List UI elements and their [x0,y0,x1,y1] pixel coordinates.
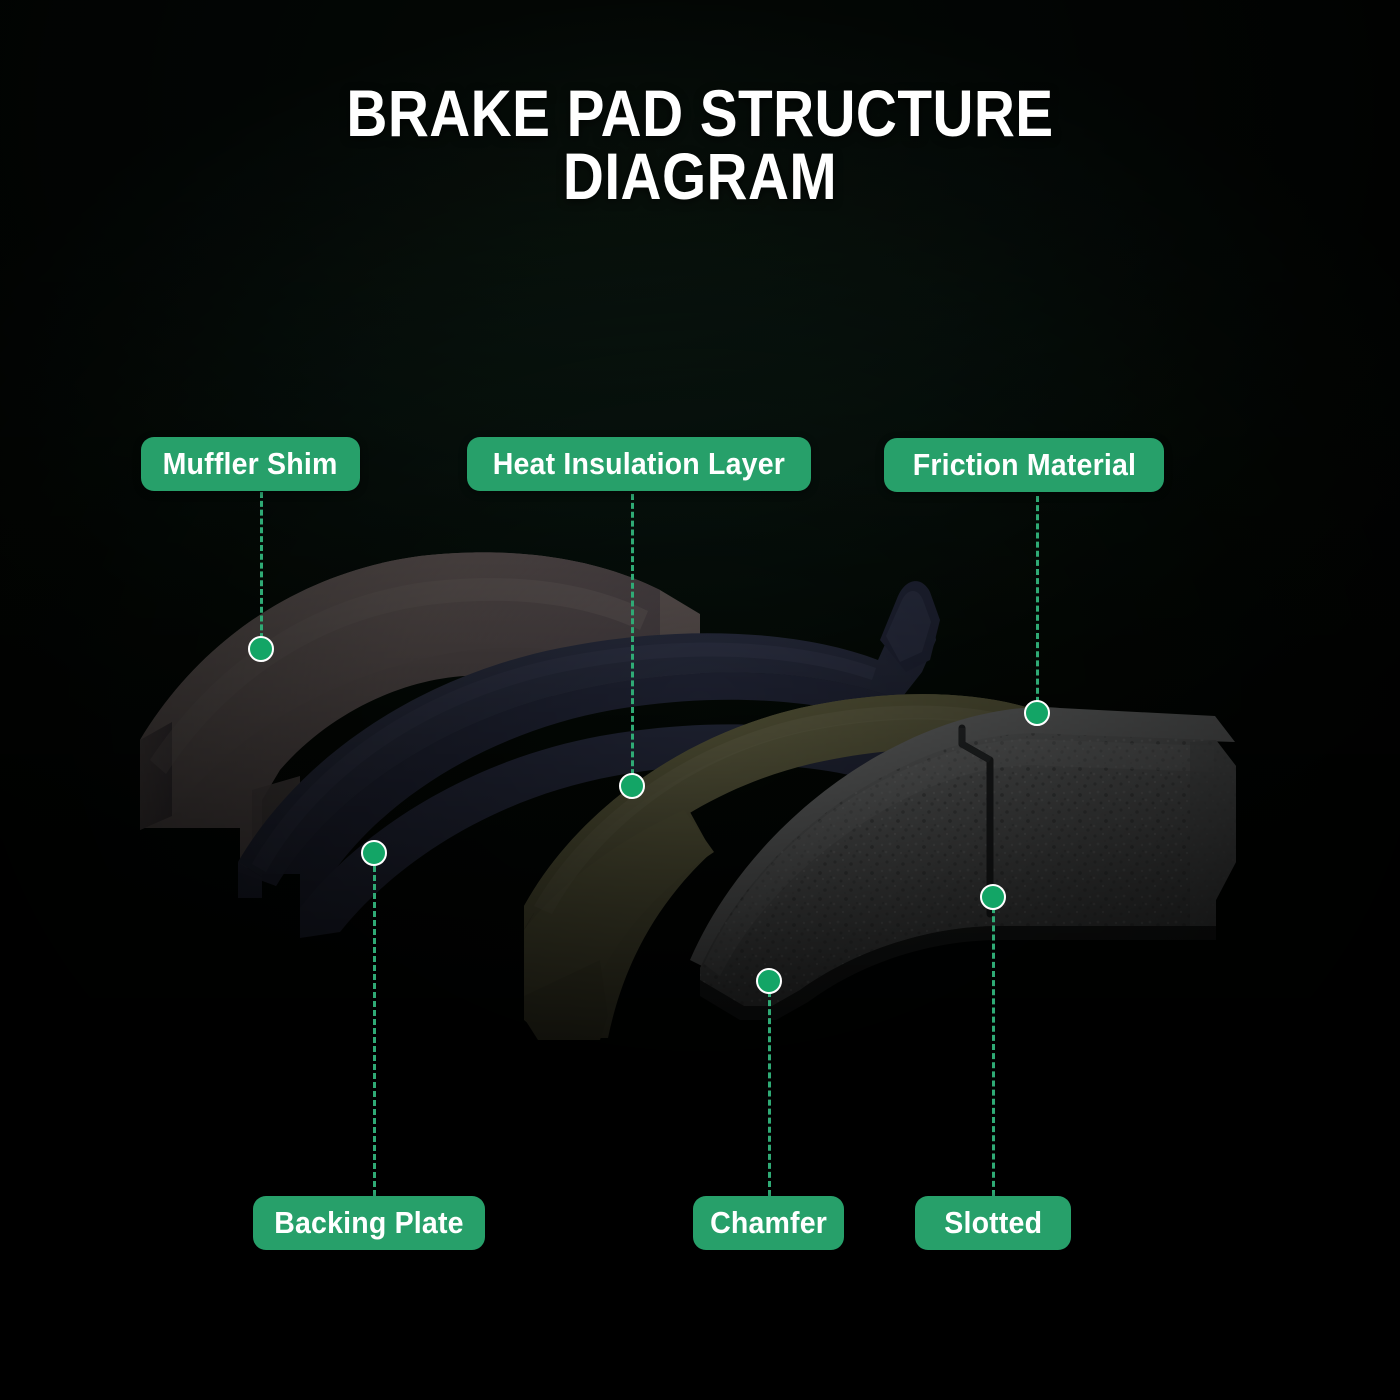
leader-line-backing-plate [373,866,376,1196]
leader-line-muffler-shim [260,492,263,648]
callout-dot-backing-plate[interactable] [361,840,387,866]
callout-dot-heat-insulation-layer[interactable] [619,773,645,799]
callout-dot-friction-material[interactable] [1024,700,1050,726]
brake-pad-diagram-page: BRAKE PAD STRUCTURE DIAGRAM Muffler Shim… [0,0,1400,1400]
label-muffler-shim-text: Muffler Shim [163,446,338,482]
page-title: BRAKE PAD STRUCTURE DIAGRAM [98,82,1302,209]
leader-line-slotted [992,898,995,1196]
label-friction-material[interactable]: Friction Material [884,438,1164,492]
label-chamfer-text: Chamfer [710,1205,827,1241]
label-backing-plate[interactable]: Backing Plate [253,1196,485,1250]
callout-dot-chamfer[interactable] [756,968,782,994]
leader-line-heat-insulation-layer [631,494,634,784]
callout-dot-muffler-shim[interactable] [248,636,274,662]
leader-line-friction-material [1036,496,1039,712]
label-chamfer[interactable]: Chamfer [693,1196,844,1250]
callout-dot-slotted[interactable] [980,884,1006,910]
label-friction-material-text: Friction Material [912,447,1135,483]
label-heat-insulation-layer[interactable]: Heat Insulation Layer [467,437,811,491]
label-slotted-text: Slotted [944,1205,1042,1241]
label-muffler-shim[interactable]: Muffler Shim [141,437,360,491]
label-heat-insulation-layer-text: Heat Insulation Layer [493,446,785,482]
label-slotted[interactable]: Slotted [915,1196,1071,1250]
label-backing-plate-text: Backing Plate [274,1205,463,1241]
leader-line-chamfer [768,982,771,1196]
